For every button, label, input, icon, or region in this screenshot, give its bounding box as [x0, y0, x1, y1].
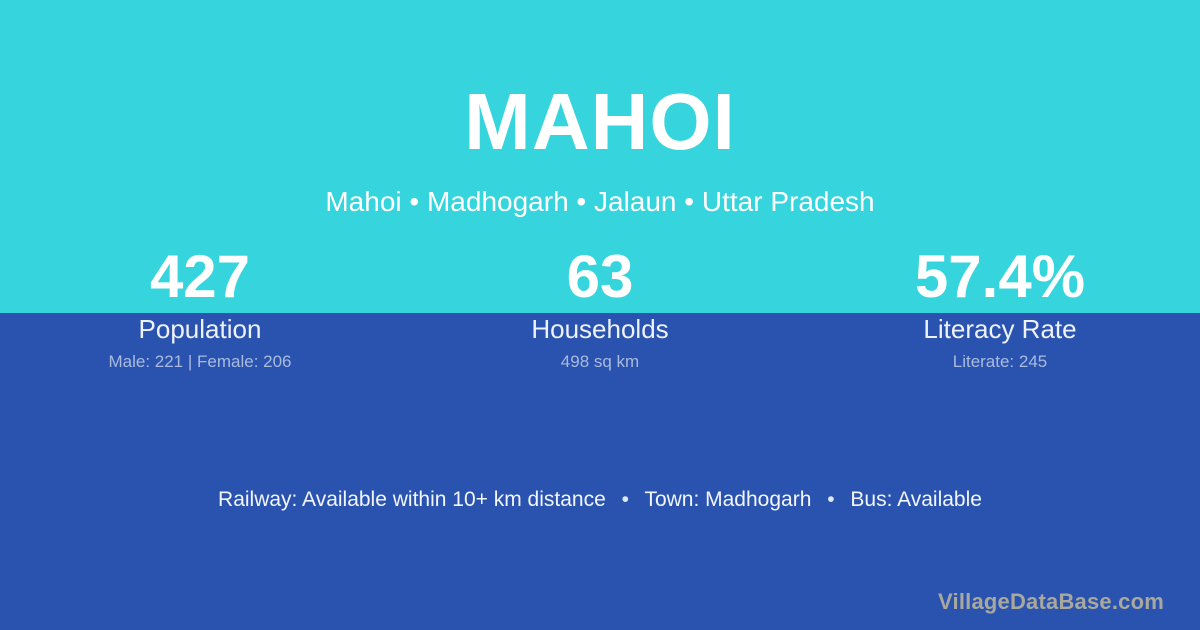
- card-header: MAHOI Mahoi • Madhogarh • Jalaun • Uttar…: [0, 0, 1200, 216]
- stat-population: 427 Population Male: 221 | Female: 206: [0, 248, 400, 372]
- stat-label-population: Population: [0, 314, 400, 344]
- stat-label-literacy-rate: Literacy Rate: [800, 314, 1200, 344]
- village-info-card: MAHOI Mahoi • Madhogarh • Jalaun • Uttar…: [0, 0, 1200, 630]
- info-separator-1: •: [612, 488, 639, 511]
- info-item-town: Town: Madhogarh: [644, 488, 811, 511]
- stat-literacy-rate: 57.4% Literacy Rate Literate: 245: [800, 248, 1200, 372]
- stat-value-literacy-rate: 57.4%: [800, 248, 1200, 306]
- stat-sub-literacy-rate: Literate: 245: [800, 352, 1200, 372]
- stat-sub-households: 498 sq km: [400, 352, 800, 372]
- stat-households: 63 Households 498 sq km: [400, 248, 800, 372]
- stat-value-households: 63: [400, 248, 800, 306]
- info-item-railway: Railway: Available within 10+ km distanc…: [218, 488, 606, 511]
- page-title: MAHOI: [0, 0, 1200, 162]
- watermark-villagedatabase: VillageDataBase.com: [938, 588, 1164, 616]
- amenities-info-line: Railway: Available within 10+ km distanc…: [0, 487, 1200, 513]
- stats-row: 427 Population Male: 221 | Female: 206 6…: [0, 248, 1200, 372]
- stat-label-households: Households: [400, 314, 800, 344]
- stat-value-population: 427: [0, 248, 400, 306]
- breadcrumb: Mahoi • Madhogarh • Jalaun • Uttar Prade…: [0, 162, 1200, 216]
- stat-sub-population: Male: 221 | Female: 206: [0, 352, 400, 372]
- info-item-bus: Bus: Available: [850, 488, 982, 511]
- info-separator-2: •: [817, 488, 844, 511]
